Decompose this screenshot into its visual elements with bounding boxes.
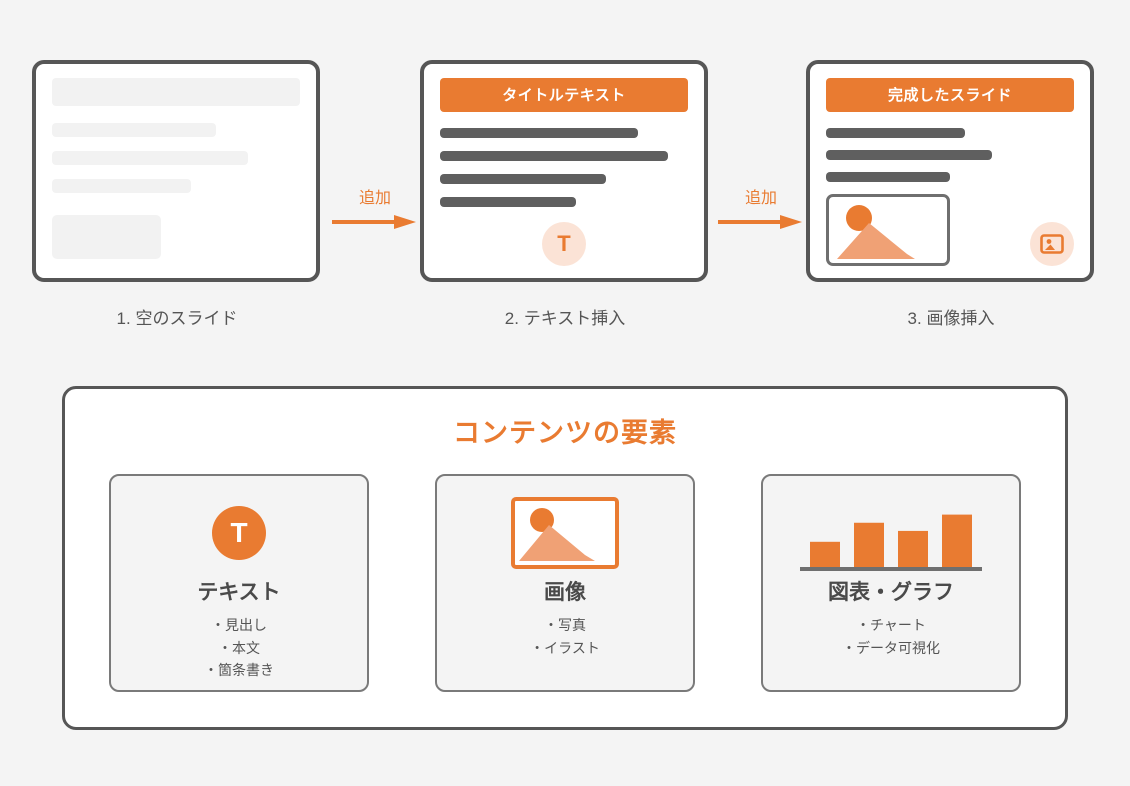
text-lines-group (826, 128, 1074, 182)
content-cards-row: T テキスト ・見出し ・本文 ・箇条書き (65, 474, 1065, 692)
text-line-2 (440, 151, 668, 161)
card-text[interactable]: T テキスト ・見出し ・本文 ・箇条書き (109, 474, 369, 692)
bar-chart-icon (798, 494, 984, 572)
t-circle-shape: T (212, 506, 266, 560)
arrow-right-icon (718, 214, 804, 230)
bullet-item: ・イラスト (530, 637, 600, 660)
card-chart-title: 図表・グラフ (828, 576, 954, 606)
placeholder-block (52, 215, 161, 259)
text-line-1 (440, 128, 638, 138)
step-3-image-slide: 完成したスライド (806, 60, 1096, 329)
step-2-caption: 2. テキスト挿入 (420, 304, 710, 329)
step-3-caption: 3. 画像挿入 (806, 304, 1096, 329)
picture-glyph-icon (1040, 234, 1064, 254)
content-elements-panel: コンテンツの要素 T テキスト ・見出し ・本文 ・箇条書き (62, 386, 1068, 730)
text-line-2 (826, 150, 992, 160)
photo-illustration-icon (829, 197, 947, 263)
placeholder-title-bar (52, 78, 300, 106)
text-lines-group (440, 128, 688, 207)
arrow-right-icon (332, 214, 418, 230)
chart-bar (898, 531, 928, 569)
bullet-item: ・写真 (530, 614, 600, 637)
panel-title: コンテンツの要素 (65, 411, 1065, 450)
chart-bar (854, 523, 884, 569)
chart-bar (810, 542, 840, 569)
step-1-empty-slide: 1. 空のスライド (32, 60, 322, 329)
slide-title-bar-complete: 完成したスライド (826, 78, 1074, 112)
text-line-3 (440, 174, 606, 184)
card-text-title: テキスト (197, 576, 280, 606)
card-chart[interactable]: 図表・グラフ ・チャート ・データ可視化 (761, 474, 1021, 692)
chart-bar (942, 515, 972, 569)
arrow-step2-to-step3: 追加 (718, 184, 804, 235)
slide-title-bar-text: タイトルテキスト (440, 78, 688, 112)
slide-preview-complete[interactable]: 完成したスライド (806, 60, 1094, 282)
arrow-label-1: 追加 (332, 184, 418, 208)
badge-letter-t: T (557, 231, 570, 257)
card-image[interactable]: 画像 ・写真 ・イラスト (435, 474, 695, 692)
bullet-item: ・チャート (842, 614, 940, 637)
bullet-item: ・見出し (204, 614, 274, 637)
bullet-item: ・データ可視化 (842, 637, 940, 660)
text-line-4 (440, 197, 576, 207)
image-thumbnail[interactable] (826, 194, 950, 266)
text-line-1 (826, 128, 965, 138)
card-image-bullets: ・写真 ・イラスト (530, 614, 600, 659)
steps-row: 1. 空のスライド 追加 タイトルテキスト T (0, 60, 1130, 340)
picture-frame-icon (511, 494, 619, 572)
placeholder-line-3 (52, 179, 191, 193)
step-2-text-slide: タイトルテキスト T 2. テキスト挿入 (420, 60, 710, 329)
text-T-circle-icon: T (212, 494, 266, 572)
arrow-label-2: 追加 (718, 184, 804, 208)
text-line-3 (826, 172, 950, 182)
bullet-item: ・本文 (204, 637, 274, 660)
bar-chart-shape (798, 493, 984, 573)
text-T-icon[interactable]: T (542, 222, 586, 266)
card-image-title: 画像 (544, 576, 586, 606)
slide-preview-text[interactable]: タイトルテキスト T (420, 60, 708, 282)
arrow-step1-to-step2: 追加 (332, 184, 418, 235)
slide-preview-empty[interactable] (32, 60, 320, 282)
photo-illustration-icon (515, 501, 615, 565)
diagram-canvas: 1. 空のスライド 追加 タイトルテキスト T (0, 0, 1130, 786)
bullet-item: ・箇条書き (204, 659, 274, 682)
card-text-bullets: ・見出し ・本文 ・箇条書き (204, 614, 274, 682)
placeholder-line-1 (52, 123, 216, 137)
card-icon-letter: T (230, 517, 247, 549)
picture-frame-shape (511, 497, 619, 569)
picture-icon[interactable] (1030, 222, 1074, 266)
step-1-caption: 1. 空のスライド (32, 304, 322, 329)
card-chart-bullets: ・チャート ・データ可視化 (842, 614, 940, 659)
placeholder-line-2 (52, 151, 248, 165)
